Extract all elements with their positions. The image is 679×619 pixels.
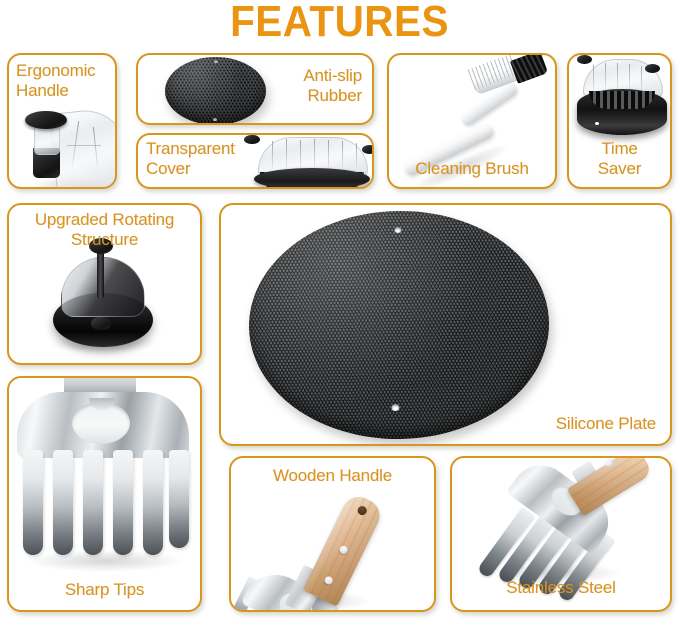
feature-label-time-saver: Time Saver [569,139,670,179]
cover-spike-icon [286,139,287,169]
claw-tine-icon [23,450,43,555]
feature-card-ergonomic-handle: Ergonomic Handle [7,53,117,189]
feature-card-sharp-tips: Sharp Tips [7,376,202,612]
cover-spike-icon [300,140,301,169]
cover-spike-icon [342,141,343,169]
feature-label-sharp-tips: Sharp Tips [9,580,200,600]
feature-card-transparent-cover: Transparent Cover [136,133,374,189]
feature-label-upgraded-rotating-structure: Upgraded Rotating Structure [9,210,200,250]
feature-label-silicone-plate: Silicone Plate [556,414,656,434]
silicone-plate-disc-icon [247,208,551,441]
wooden-handle-icon [303,491,385,607]
chopper-spike-icon [629,64,630,91]
drop-shadow [25,550,185,572]
handle-rivet-icon [338,545,349,556]
time-saver-plunger-icon [577,55,592,64]
feature-card-time-saver: Time Saver [567,53,672,189]
brush-black-bristles-icon [510,53,548,84]
anti-slip-rubber-disc-icon [165,57,266,125]
cover-spike-icon [314,139,315,169]
feature-label-ergonomic-handle: Ergonomic Handle [16,61,95,101]
feature-label-wooden-handle: Wooden Handle [231,466,434,486]
cover-spike-icon [356,143,357,169]
cover-plunger-icon [244,135,260,144]
feature-card-upgraded-rotating-structure: Upgraded Rotating Structure [7,203,202,365]
rotating-foot-icon [91,317,111,330]
chopper-spike-icon [605,63,606,91]
feature-card-silicone-plate: Silicone Plate [219,203,672,446]
chopper-spike-icon [593,65,594,91]
claw-tine-icon [113,450,133,555]
cover-spike-icon [328,140,329,169]
cover-spike-icon [272,141,273,169]
page-title: FEATURES [27,0,652,48]
bowl-blade-icon [67,145,101,146]
handle-rivet-icon [605,459,613,467]
claw-tine-icon [143,450,163,555]
time-saver-blades-icon [589,91,655,109]
rotating-shaft-icon [97,250,104,298]
claw-tine-icon [169,450,189,548]
feature-label-transparent-cover: Transparent Cover [146,139,235,179]
ergonomic-knob-icon [25,111,67,129]
feature-card-stainless-steel: Stainless Steel [450,456,672,612]
feature-card-cleaning-brush: Cleaning Brush [387,53,557,189]
claw-tine-icon [53,450,73,555]
feature-label-anti-slip-rubber: Anti-slip Rubber [303,66,362,106]
claw-tine-icon [83,450,103,555]
chopper-spike-icon [641,66,642,91]
handle-hang-hole-icon [356,505,368,517]
indicator-dot-icon [595,122,599,125]
feature-card-anti-slip-rubber: Anti-slip Rubber [136,53,374,125]
feature-label-stainless-steel: Stainless Steel [452,578,670,598]
cover-base-ring-icon [254,168,370,189]
disc-hole-icon [214,60,218,63]
feature-label-cleaning-brush: Cleaning Brush [389,159,555,179]
handle-rivet-icon [323,575,334,586]
feature-card-wooden-handle: Wooden Handle [229,456,436,612]
time-saver-plunger-icon [645,64,660,73]
chopper-spike-icon [617,63,618,91]
cover-plunger-icon [362,145,374,154]
